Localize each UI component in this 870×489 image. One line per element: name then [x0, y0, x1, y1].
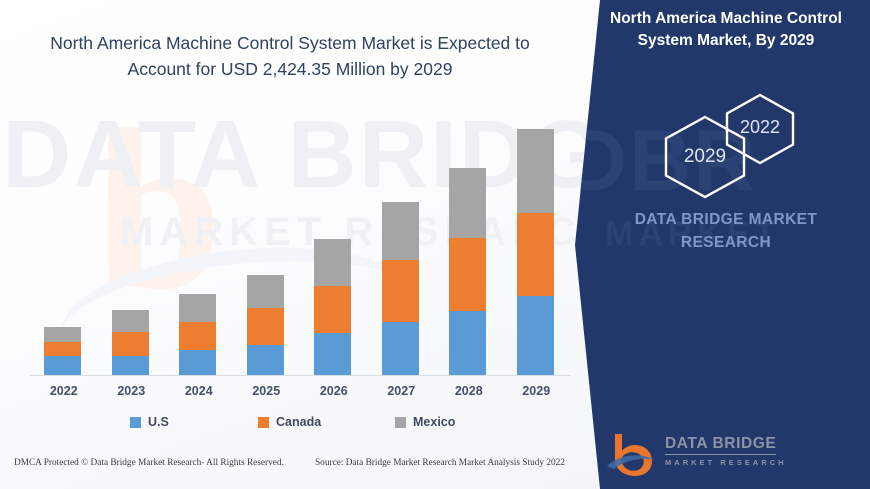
bar-segment-mexico-2026	[314, 239, 351, 286]
logo-mark-svg	[605, 432, 659, 476]
chart-legend: U.SCanadaMexico	[30, 415, 570, 437]
bar-segment-us-2029	[517, 296, 554, 376]
bar-segment-mexico-2022	[44, 327, 81, 342]
bar-segment-canada-2029	[517, 213, 554, 296]
x-axis-label-2022: 2022	[32, 384, 95, 398]
chart-panel: b DATA BRIDGE MARKET RESEARCH North Amer…	[0, 0, 600, 489]
bar-segment-us-2026	[314, 333, 351, 376]
footer: DMCA Protected © Data Bridge Market Rese…	[0, 455, 600, 479]
legend-item-canada[interactable]: Canada	[258, 415, 321, 429]
bar-segment-canada-2025	[247, 308, 284, 345]
panel-brand: DATA BRIDGE MARKET RESEARCH	[593, 208, 859, 254]
x-axis-label-2024: 2024	[167, 384, 230, 398]
bar-segment-us-2023	[112, 356, 149, 376]
chart-x-axis-labels: 20222023202420252026202720282029	[30, 384, 570, 404]
bar-segment-canada-2028	[449, 238, 486, 311]
chart-baseline-axis	[30, 375, 570, 376]
footer-copyright: DMCA Protected © Data Bridge Market Rese…	[14, 458, 284, 468]
hexagon-2022: 2022	[722, 92, 798, 166]
bar-segment-mexico-2025	[247, 275, 284, 309]
x-axis-label-2026: 2026	[302, 384, 365, 398]
legend-label: Mexico	[413, 415, 455, 429]
bar-segment-us-2025	[247, 345, 284, 376]
infographic-root: b DATA BRIDGE MARKET RESEARCH North Amer…	[0, 0, 870, 489]
x-axis-label-2029: 2029	[505, 384, 568, 398]
logo-name: DATA BRIDGE	[665, 435, 776, 455]
bar-segment-mexico-2029	[517, 129, 554, 213]
bar-segment-mexico-2023	[112, 310, 149, 333]
logo-text: DATA BRIDGE MARKET RESEARCH	[665, 435, 787, 467]
databridge-b-icon	[605, 432, 659, 476]
bar-segment-us-2028	[449, 311, 486, 376]
bar-2022	[44, 327, 81, 376]
chart-plot-area	[30, 110, 570, 376]
bar-segment-mexico-2027	[382, 202, 419, 260]
x-axis-label-2027: 2027	[370, 384, 433, 398]
panel-title: North America Machine Control System Mar…	[593, 8, 859, 52]
footer-source: Source: Data Bridge Market Research Mark…	[315, 458, 565, 468]
bar-2029	[517, 129, 554, 376]
bar-segment-canada-2022	[44, 342, 81, 355]
legend-label: Canada	[276, 415, 321, 429]
x-axis-label-2025: 2025	[235, 384, 298, 398]
legend-swatch-icon	[130, 417, 141, 428]
panel-brand-line1: DATA BRIDGE MARKET	[593, 208, 859, 231]
logo-tagline: MARKET RESEARCH	[665, 458, 787, 467]
bar-2025	[247, 275, 284, 376]
bar-2026	[314, 239, 351, 376]
panel-brand-line2: RESEARCH	[593, 231, 859, 254]
bar-segment-canada-2026	[314, 286, 351, 333]
bar-segment-canada-2023	[112, 332, 149, 356]
hexagon-group: 2029 2022	[660, 92, 860, 197]
brand-panel: DBR MARKET North America Machine Control…	[575, 0, 870, 489]
bar-2027	[382, 202, 419, 376]
legend-item-mexico[interactable]: Mexico	[395, 415, 455, 429]
x-axis-label-2028: 2028	[437, 384, 500, 398]
bar-segment-us-2024	[179, 350, 216, 376]
legend-swatch-icon	[395, 417, 406, 428]
logo: DATA BRIDGE MARKET RESEARCH	[605, 432, 845, 476]
bar-segment-mexico-2024	[179, 294, 216, 322]
bar-2028	[449, 168, 486, 376]
x-axis-label-2023: 2023	[100, 384, 163, 398]
bar-segment-mexico-2028	[449, 168, 486, 238]
bar-2024	[179, 294, 216, 376]
legend-item-us[interactable]: U.S	[130, 415, 169, 429]
chart-title: North America Machine Control System Mar…	[30, 30, 550, 82]
bar-2023	[112, 310, 149, 376]
bar-segment-canada-2024	[179, 322, 216, 351]
bar-segment-canada-2027	[382, 260, 419, 321]
hexagon-2022-label: 2022	[722, 117, 798, 138]
bar-segment-us-2027	[382, 322, 419, 376]
legend-swatch-icon	[258, 417, 269, 428]
legend-label: U.S	[148, 415, 169, 429]
bar-segment-us-2022	[44, 356, 81, 376]
